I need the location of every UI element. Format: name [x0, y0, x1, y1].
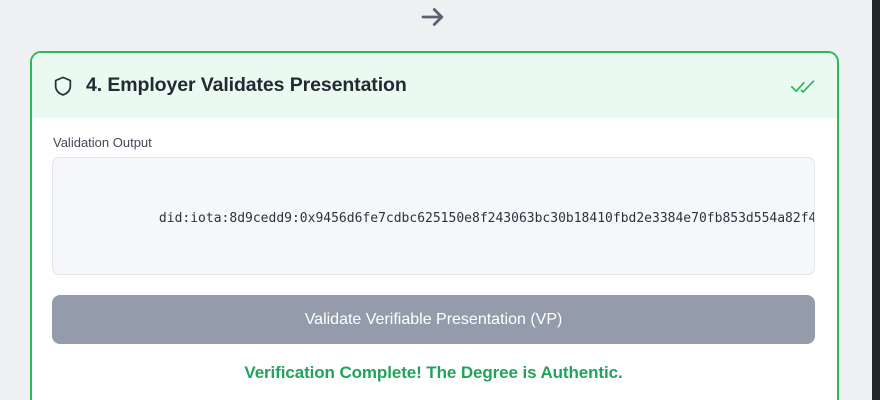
validation-output-label: Validation Output — [53, 135, 815, 150]
window-right-edge — [872, 0, 880, 400]
validate-vp-button[interactable]: Validate Verifiable Presentation (VP) — [52, 295, 815, 344]
shield-icon — [52, 74, 74, 98]
page-title: 4. Employer Validates Presentation — [86, 74, 791, 97]
validation-output-text: did:iota:8d9cedd9:0x9456d6fe7cdbc625150e… — [65, 157, 802, 275]
output-line: did:iota:8d9cedd9:0x9456d6fe7cdbc625150e… — [65, 189, 802, 249]
page-root: 4. Employer Validates Presentation Valid… — [0, 0, 880, 400]
double-check-icon — [791, 77, 815, 95]
card-body: Validation Output did:iota:8d9cedd9:0x94… — [32, 118, 837, 400]
verification-result-message: Verification Complete! The Degree is Aut… — [52, 363, 815, 383]
card-header: 4. Employer Validates Presentation — [32, 53, 837, 118]
arrow-right-icon — [418, 2, 448, 32]
validation-output-box[interactable]: did:iota:8d9cedd9:0x9456d6fe7cdbc625150e… — [52, 157, 815, 275]
output-line-text: did:iota:8d9cedd9:0x9456d6fe7cdbc625150e… — [159, 211, 815, 226]
flow-arrow-row — [0, 0, 866, 34]
validation-step-card: 4. Employer Validates Presentation Valid… — [30, 51, 839, 400]
